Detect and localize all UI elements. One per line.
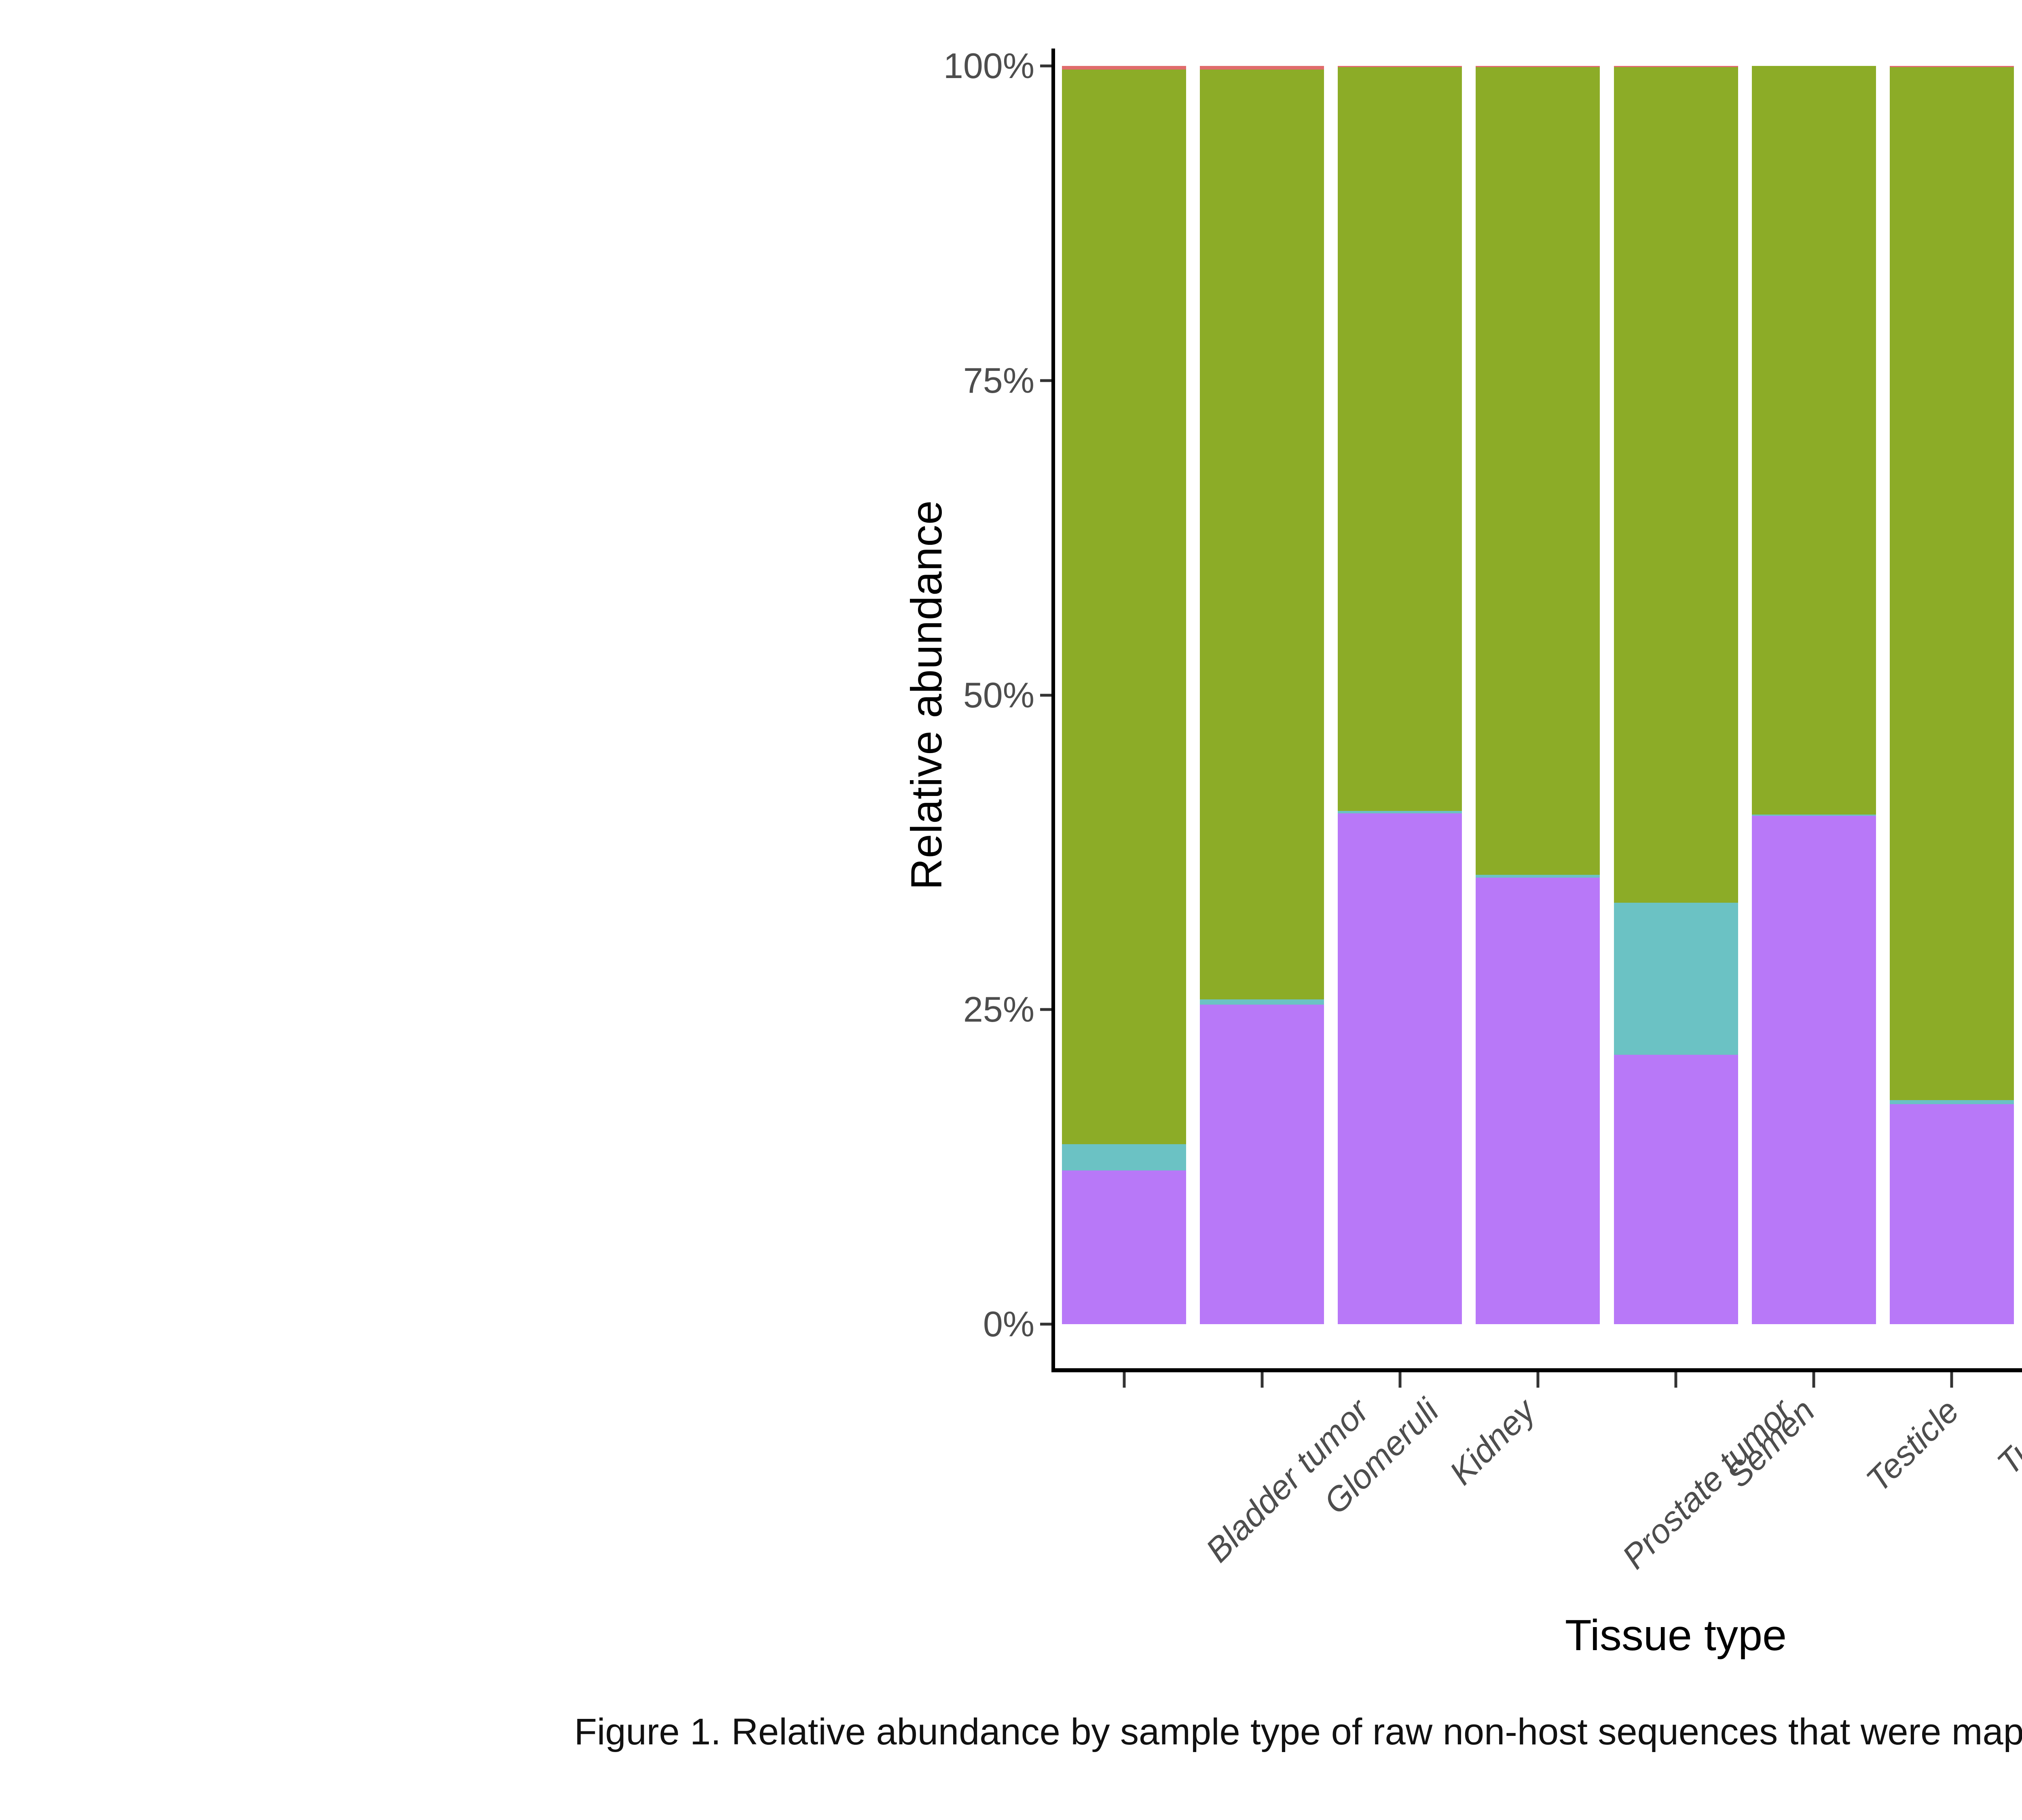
bar-stack[interactable] <box>1338 66 1462 1324</box>
bar-segment[interactable] <box>1062 66 1186 70</box>
plot-area <box>1055 66 2022 1324</box>
bar-stack[interactable] <box>1890 66 2014 1324</box>
bar-segment[interactable] <box>1476 878 1600 1324</box>
y-tick-label: 0% <box>983 1304 1034 1345</box>
bar-stack[interactable] <box>1200 66 1324 1324</box>
figure-page: Relative abundance 0%25%50%75%100% Bladd… <box>0 0 2022 1820</box>
bar-segment[interactable] <box>1752 816 1876 1324</box>
bar-segment[interactable] <box>1890 1100 2014 1104</box>
bar-segment[interactable] <box>1200 1005 1324 1324</box>
y-axis-ticks: 0%25%50%75%100% <box>930 0 1051 1691</box>
chart-figure: Relative abundance 0%25%50%75%100% Bladd… <box>0 0 2022 1691</box>
figure-caption: Figure 1. Relative abundance by sample t… <box>0 1711 2022 1753</box>
x-axis-title: Tissue type <box>1055 1610 2022 1660</box>
x-tick-mark <box>1123 1372 1125 1388</box>
x-axis-labels: Bladder tumorGlomeruliKidneyProstate tum… <box>1055 1391 2022 1634</box>
x-tick-mark <box>1813 1372 1815 1388</box>
x-tick-label: Kidney <box>1442 1391 1543 1493</box>
bar-segment[interactable] <box>1614 67 1738 903</box>
y-axis-line <box>1051 49 1055 1371</box>
bar-segment[interactable] <box>1752 66 1876 815</box>
x-axis-ticks <box>1055 1372 2022 1388</box>
y-tick-label: 100% <box>943 45 1034 87</box>
bar-segment[interactable] <box>1062 1144 1186 1170</box>
bar-segment[interactable] <box>1890 1104 2014 1324</box>
y-tick-label: 50% <box>963 675 1034 716</box>
x-tick-mark <box>1536 1372 1539 1388</box>
x-tick-mark <box>1950 1372 1953 1388</box>
bar-segment[interactable] <box>1062 1170 1186 1324</box>
y-tick-mark <box>1040 1008 1051 1011</box>
y-tick-mark <box>1040 1323 1051 1326</box>
y-tick-mark <box>1040 379 1051 382</box>
bar-segment[interactable] <box>1200 999 1324 1004</box>
x-tick-label-line: Kidney <box>1442 1392 1542 1492</box>
x-tick-label: Tubuli <box>1989 1391 2022 1483</box>
bar-stack[interactable] <box>1752 66 1876 1324</box>
y-tick-mark <box>1040 65 1051 68</box>
bar-segment[interactable] <box>1890 67 2014 1100</box>
x-axis-line <box>1051 1368 2022 1372</box>
y-tick-label: 75% <box>963 360 1034 401</box>
x-tick-label-line: Tubuli <box>1990 1392 2022 1482</box>
bar-segment[interactable] <box>1614 1055 1738 1324</box>
bar-stack[interactable] <box>1062 66 1186 1324</box>
bar-stack[interactable] <box>1614 66 1738 1324</box>
x-tick-mark <box>1675 1372 1677 1388</box>
bar-segment[interactable] <box>1338 813 1462 1324</box>
y-tick-mark <box>1040 694 1051 696</box>
x-tick-mark <box>1398 1372 1401 1388</box>
bar-segment[interactable] <box>1200 70 1324 999</box>
y-tick-label: 25% <box>963 989 1034 1030</box>
bar-stack[interactable] <box>1476 66 1600 1324</box>
x-tick-mark <box>1261 1372 1263 1388</box>
bar-segment[interactable] <box>1062 70 1186 1144</box>
bar-segment[interactable] <box>1338 67 1462 811</box>
bar-segment[interactable] <box>1200 66 1324 70</box>
bar-segment[interactable] <box>1614 903 1738 1055</box>
x-tick-label-line: Testicle <box>1859 1392 1966 1499</box>
bar-segment[interactable] <box>1476 67 1600 875</box>
x-tick-label: Testicle <box>1859 1391 1967 1500</box>
